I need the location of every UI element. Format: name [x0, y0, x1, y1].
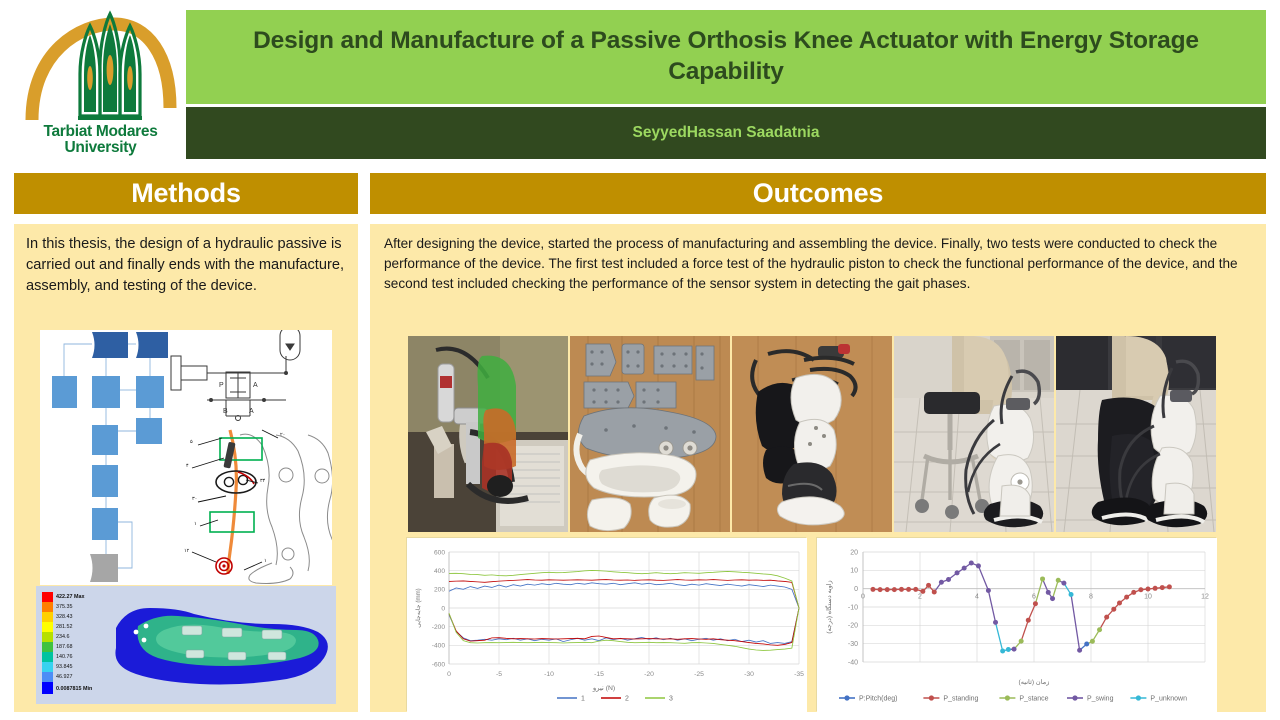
chart2-point [1077, 648, 1082, 653]
svg-text:۳۴: ۳۴ [260, 478, 266, 484]
chart2-point [1069, 592, 1074, 597]
svg-text:۱۲: ۱۲ [184, 548, 190, 554]
fea-legend-value-1: 375.35 [56, 604, 73, 610]
svg-text:B: B [223, 408, 228, 415]
fea-stress-contour: 422.27 Max 375.35 328.43 281.52 234.6 18… [36, 586, 336, 704]
svg-text:۳۰: ۳۰ [192, 496, 197, 502]
chart2-point [1061, 581, 1066, 586]
fea-legend-value-8: 46.927 [56, 674, 73, 680]
section-title-methods: Methods [131, 178, 241, 209]
chart1-ylabel: جابه‌جایی (mm) [415, 588, 422, 628]
chart2-point [926, 583, 931, 588]
chart1-xtick: 0 [447, 671, 451, 678]
svg-text:A: A [253, 382, 258, 389]
fea-legend-value-4: 234.6 [56, 634, 70, 640]
chart2-point [1160, 585, 1165, 590]
chart2-ytick: 0 [854, 586, 858, 593]
chart1-xtick: -30 [744, 671, 754, 678]
chart1-legend-2: 2 [625, 696, 629, 703]
outcomes-photo-strip [408, 336, 1216, 532]
poster-title-bar: Design and Manufacture of a Passive Orth… [186, 10, 1266, 104]
chart1-legend-1: 1 [581, 696, 585, 703]
fea-legend-value-3: 281.52 [56, 624, 73, 630]
chart2-legend-P_stance: P_stance [1019, 696, 1048, 703]
chart1-canvas: 6004002000-200-400-6000-5-10-15-20-25-30… [407, 538, 807, 712]
logo-line-2: University [18, 140, 183, 156]
chart1-xtick: -10 [544, 671, 554, 678]
fea-legend-value-9: 0.0087815 Min [56, 686, 92, 692]
chart2-point [1124, 595, 1129, 600]
chart2-point [906, 587, 911, 592]
chart2-point [1084, 642, 1089, 647]
chart2-point [962, 566, 967, 571]
chart2-point [913, 587, 918, 592]
chart2-point [1138, 587, 1143, 592]
chart2-point [1131, 590, 1136, 595]
chart2-point [1040, 576, 1045, 581]
fea-legend-value-5: 187.68 [56, 644, 73, 650]
svg-text:۵: ۵ [190, 439, 193, 445]
chart2-point [1146, 587, 1151, 592]
chart2-xtick: 4 [975, 594, 979, 601]
photo-standing-user-wearing-orthosis [1056, 336, 1216, 532]
chart1-ytick: 200 [434, 587, 445, 594]
poster-root: Tarbiat Modares University Design and Ma… [0, 0, 1280, 720]
chart2-ytick: -40 [848, 659, 858, 666]
chart1-legend-3: 3 [669, 696, 673, 703]
poster-title: Design and Manufacture of a Passive Orth… [220, 26, 1232, 88]
methods-diagram-figure: P A B A [40, 330, 332, 585]
chart2-ytick: 20 [850, 549, 858, 556]
chart2-point [1050, 596, 1055, 601]
chart2-point [899, 587, 904, 592]
chart2-point [932, 589, 937, 594]
methods-body-text: In this thesis, the design of a hydrauli… [26, 234, 346, 297]
chart2-ytick: -20 [848, 623, 858, 630]
design-flowchart-diagram: P A B A [40, 330, 332, 585]
chart-force-displacement: 6004002000-200-400-6000-5-10-15-20-25-30… [406, 537, 806, 711]
chart2-point [1090, 639, 1095, 644]
photo-machined-and-printed-parts-layout [570, 336, 730, 532]
chart2-point [920, 589, 925, 594]
section-header-methods: Methods [14, 173, 358, 214]
fea-legend-value-0: 422.27 Max [56, 594, 84, 600]
chart2-point [885, 587, 890, 592]
photo-seated-user-wearing-orthosis [894, 336, 1054, 532]
chart2-point [1153, 586, 1158, 591]
chart1-xtick: -25 [694, 671, 704, 678]
chart1-xtick: -35 [794, 671, 804, 678]
chart2-point [1046, 590, 1051, 595]
chart2-point [939, 580, 944, 585]
logo-wordmark: Tarbiat Modares University [18, 124, 183, 157]
poster-author: SeyyedHassan Saadatnia [633, 124, 820, 142]
chart2-point [870, 587, 875, 592]
chart1-xtick: -15 [594, 671, 604, 678]
chart2-point [955, 570, 960, 575]
svg-text:۱: ۱ [264, 558, 267, 564]
chart2-legend-P:Pitch(deg): P:Pitch(deg) [859, 696, 898, 703]
chart2-ytick: -10 [848, 604, 858, 611]
chart2-xtick: 10 [1144, 594, 1152, 601]
outcomes-body-text: After designing the device, started the … [384, 234, 1252, 294]
chart2-point [969, 561, 974, 566]
chart1-xtick: -5 [496, 671, 502, 678]
chart2-xlabel: زمان (ثانیه) [1019, 678, 1050, 686]
university-logo: Tarbiat Modares University [18, 8, 183, 163]
tmu-logo-icon [18, 8, 183, 128]
chart2-point [1026, 618, 1031, 623]
svg-text:۲۰: ۲۰ [280, 432, 285, 438]
logo-line-1: Tarbiat Modares [18, 124, 183, 140]
fea-legend-value-7: 93.845 [56, 664, 73, 670]
chart2-ytick: -30 [848, 641, 858, 648]
methods-fea-figure: 422.27 Max 375.35 328.43 281.52 234.6 18… [36, 586, 336, 704]
chart2-point [1006, 647, 1011, 652]
chart2-point [1033, 601, 1038, 606]
svg-text:A: A [249, 408, 254, 415]
svg-text:۴: ۴ [186, 463, 189, 469]
poster-author-bar: SeyyedHassan Saadatnia [186, 107, 1266, 159]
chart1-ytick: -200 [432, 624, 446, 631]
chart2-xtick: 2 [918, 594, 922, 601]
fea-legend-value-6: 140.76 [56, 654, 73, 660]
chart1-xlabel: نیرو (N) [592, 685, 615, 692]
chart2-point [1097, 627, 1102, 632]
chart1-ytick: 0 [441, 605, 445, 612]
chart2-point [1019, 639, 1024, 644]
chart2-legend-P_standing: P_standing [943, 696, 978, 703]
chart1-ytick: -400 [432, 643, 446, 650]
chart2-canvas: 20100-10-20-30-40024681012زاویه دستگاه (… [817, 538, 1217, 712]
chart2-ytick: 10 [850, 568, 858, 575]
chart2-point [986, 588, 991, 593]
chart1-ytick: -600 [432, 661, 446, 668]
chart2-point [976, 563, 981, 568]
chart1-xtick: -20 [644, 671, 654, 678]
chart2-xtick: 6 [1032, 594, 1036, 601]
chart2-xtick: 12 [1201, 594, 1209, 601]
chart2-point [1167, 584, 1172, 589]
chart2-point [946, 577, 951, 582]
section-title-outcomes: Outcomes [753, 178, 883, 209]
chart2-point [1104, 615, 1109, 620]
chart2-point [1117, 600, 1122, 605]
chart2-point [1111, 607, 1116, 612]
chart2-point [892, 587, 897, 592]
chart2-point [878, 587, 883, 592]
chart2-point [1000, 649, 1005, 654]
chart2-legend-P_swing: P_swing [1087, 696, 1114, 703]
photo-assembled-knee-orthosis [732, 336, 892, 532]
svg-text:P: P [219, 382, 224, 389]
chart2-legend-P_unknown: P_unknown [1150, 696, 1187, 703]
chart2-point [1012, 647, 1017, 652]
chart2-point [993, 620, 998, 625]
fea-legend-value-2: 328.43 [56, 614, 73, 620]
chart2-ylabel: زاویه دستگاه (درجه) [825, 580, 833, 633]
photo-hydraulic-piston-force-test-rig [408, 336, 568, 532]
svg-text:۱: ۱ [194, 521, 197, 527]
chart2-point [1056, 578, 1061, 583]
section-header-outcomes: Outcomes [370, 173, 1266, 214]
fea-legend-swatches [42, 592, 53, 694]
chart1-ytick: 600 [434, 549, 445, 556]
chart-gait-phase: 20100-10-20-30-40024681012زاویه دستگاه (… [816, 537, 1216, 711]
chart2-xtick: 8 [1089, 594, 1093, 601]
chart1-ytick: 400 [434, 568, 445, 575]
